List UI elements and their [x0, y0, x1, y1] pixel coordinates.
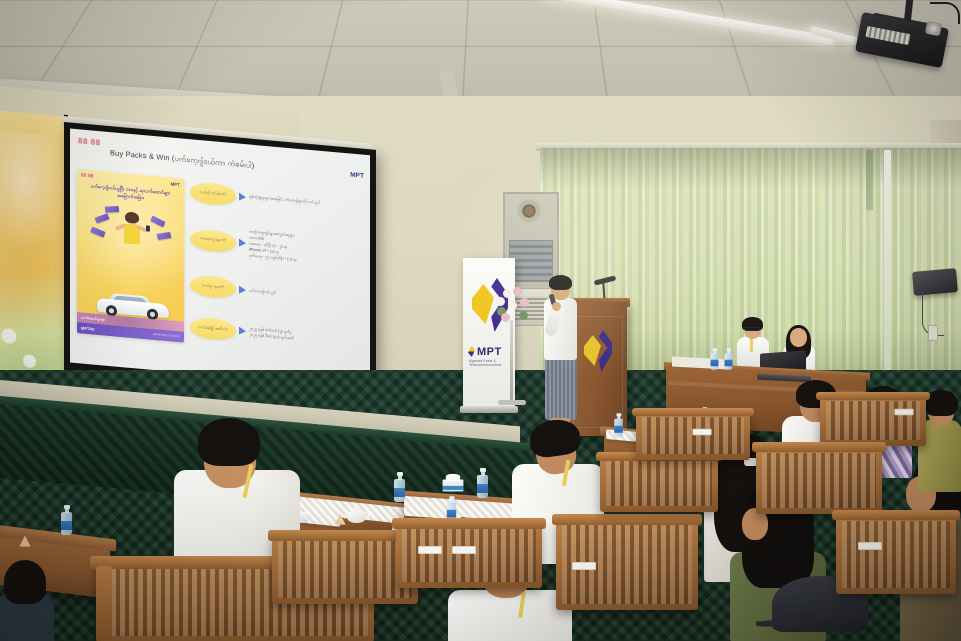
flower-stand-base	[498, 400, 526, 405]
bottle-label	[477, 484, 488, 493]
banner-brand-text: MPT	[477, 346, 502, 358]
flower-leaf	[519, 311, 528, 320]
curtain-gap	[884, 150, 891, 372]
model-hair	[125, 211, 139, 223]
bullet-label-oval: ဘယ်လို ဝင်ပါမလဲ?	[190, 181, 236, 206]
bottle-label	[447, 510, 456, 518]
wooden-bench-far-right[interactable]	[820, 396, 926, 446]
audience-hair	[198, 418, 260, 466]
teapot-lid	[352, 507, 361, 512]
wooden-bench-rear-right[interactable]	[636, 412, 750, 460]
water-bottle	[477, 468, 488, 498]
flower-bloom	[496, 297, 505, 306]
podium-logo-yellow	[584, 335, 601, 366]
water-bottle	[725, 348, 733, 370]
promo-footer-brand: MPT4U	[81, 325, 95, 331]
slide-bullet-row: ဘာဆုတွေ ရမလဲ? လစဉ်ကံထူးရှင်များအတွက်ဆုမျ…	[190, 223, 365, 269]
bench-arm-rest	[96, 566, 112, 641]
seat-name-tag	[894, 409, 913, 415]
audience-member-far-left	[0, 560, 54, 641]
seat-name-tag	[452, 546, 476, 554]
bottle-cap	[616, 413, 621, 416]
teapot	[345, 506, 369, 523]
bottle-cap	[480, 468, 486, 472]
bullet-label-oval: ဘယ်အချိန် အထိလဲ?	[190, 316, 236, 341]
conference-room-photo: 88 88 Buy Packs & Win (ပက်ကေ့ဂျ်ဝယ်ကာ ကံ…	[0, 0, 961, 641]
bench-top-rail	[552, 514, 702, 525]
bottle-cap	[449, 496, 454, 499]
bottle-label	[711, 360, 719, 366]
bullet-text: ဖုန်းသုံးစွဲသူများအနေဖြင့် ပက်ကေ့ဂျ်များ…	[249, 194, 320, 206]
tissue-box-band	[443, 486, 464, 490]
bottle-cap	[397, 472, 403, 476]
promo-ticket	[94, 213, 109, 223]
promo-footer-url: www.mpt.com.mm	[153, 332, 180, 338]
promo-ticket	[156, 232, 171, 240]
tissue-sheet	[446, 474, 460, 481]
water-bottle	[61, 505, 72, 535]
seat-name-tag	[572, 562, 596, 570]
folded-napkin	[334, 513, 345, 524]
seat-name-tag	[858, 542, 882, 550]
slide-bullet-list: ဘယ်လို ဝင်ပါမလဲ? ဖုန်းသုံးစွဲသူများအနေဖြ…	[190, 179, 365, 359]
seat-name-tag	[418, 546, 442, 554]
presenter-hand	[552, 302, 561, 311]
bench-slats	[642, 417, 744, 454]
bullet-label-oval: ဘာဆုတွေ ရမလဲ?	[190, 228, 236, 253]
slide-corner-logo: 88 88	[78, 136, 101, 147]
wooden-bench-right-front[interactable]	[836, 516, 956, 594]
screen-canvas: 88 88 Buy Packs & Win (ပက်ကေ့ဂျ်ဝယ်ကာ ကံ…	[70, 129, 370, 390]
promo-model-figure	[119, 213, 145, 249]
promo-band-text: လက်ဆောင်များစွာ	[81, 315, 105, 323]
promo-poster: 88 88 MPT ပက်ကေ့ဂျ်ဝယ်ယူပြီး ကားနှင့် ဆု…	[77, 169, 184, 343]
bullet-label-oval: ဘယ်မှာ ရမလဲ?	[190, 274, 236, 299]
flower-bloom	[520, 298, 529, 307]
glasses-icon	[745, 327, 760, 331]
promo-logo: 88 88	[81, 173, 94, 180]
bottle-cap	[64, 505, 70, 509]
bottle-label	[394, 488, 405, 497]
bench-top-rail	[632, 408, 754, 416]
presenter-hair	[549, 275, 572, 290]
folded-napkin	[19, 535, 30, 546]
promo-ticket	[150, 216, 165, 228]
projector-lens-icon	[925, 21, 942, 37]
slide-brand-mark: MPT	[350, 172, 364, 180]
promo-ticket	[90, 227, 105, 238]
presenter-longyi	[545, 358, 577, 420]
mural-frame	[0, 108, 68, 407]
bottle-label	[61, 521, 72, 530]
bullet-text: ပက်ကေ့ဂျ်ဝယ်ယူပါ	[249, 287, 276, 295]
bench-slats	[826, 401, 920, 440]
panelist-lanyard	[750, 338, 753, 352]
water-bottle	[394, 472, 405, 502]
flower-arrangement	[495, 285, 531, 329]
flower-stand	[510, 320, 513, 405]
bench-top-rail	[752, 442, 886, 452]
arrow-right-icon	[239, 192, 246, 201]
water-bottle	[711, 348, 719, 370]
promo-brand: MPT	[171, 182, 181, 188]
wooden-bench-centre[interactable]	[396, 524, 542, 588]
flower-bloom	[513, 287, 522, 296]
slide-body: 88 88 MPT ပက်ကေ့ဂျ်ဝယ်ယူပြီး ကားနှင့် ဆု…	[77, 169, 365, 359]
bottle-cap	[726, 348, 730, 351]
slide-bullet-row: ဘယ်မှာ ရမလဲ? ပက်ကေ့ဂျ်ဝယ်ယူပါ	[190, 274, 365, 311]
arrow-right-icon	[239, 327, 246, 336]
logo-yellow-chevron	[472, 284, 494, 324]
wooden-bench-mid-right[interactable]	[600, 456, 718, 512]
slide-bullet-row: ဘယ်လို ဝင်ပါမလဲ? ဖုန်းသုံးစွဲသူများအနေဖြ…	[190, 181, 365, 218]
presenter-speaker	[536, 278, 586, 430]
projection-screen[interactable]: 88 88 Buy Packs & Win (ပက်ကေ့ဂျ်ဝယ်ကာ ကံ…	[64, 122, 376, 398]
flower-bloom	[501, 313, 510, 322]
arrow-right-icon	[239, 239, 246, 248]
bench-slats	[278, 541, 412, 598]
water-bottle	[614, 413, 623, 436]
flower-bloom	[508, 301, 517, 310]
banner-base	[460, 406, 518, 413]
bottle-label	[614, 426, 623, 433]
seat-name-tag	[692, 429, 711, 435]
promo-ticket	[105, 206, 120, 213]
bullet-text: လစဉ်ကံထူးရှင်များအတွက်ဆုများ ကားတစ်စီး ပ…	[249, 228, 297, 263]
wall-outlet[interactable]	[928, 325, 938, 341]
podium-mpt-logo-icon	[584, 330, 612, 374]
bottle-cap	[712, 348, 716, 351]
flower-bloom	[503, 289, 512, 298]
banner-tagline: Myanma Posts & Telecommunications	[469, 359, 515, 367]
curtain-gap	[866, 150, 873, 210]
promo-headline: ပက်ကေ့ဂျ်ဝယ်ယူပြီး ကားနှင့် ဆုလက်ဆောင်မျ…	[82, 183, 179, 205]
tissue-box	[443, 480, 464, 492]
presentation-slide: 88 88 Buy Packs & Win (ပက်ကေ့ဂျ်ဝယ်ကာ ကံ…	[70, 129, 370, 390]
projector-cable	[930, 2, 960, 24]
bench-top-rail	[816, 392, 930, 400]
bench-slats	[402, 529, 536, 582]
arrow-right-icon	[239, 285, 246, 294]
model-phone-icon	[146, 225, 150, 231]
bench-slats	[842, 521, 950, 588]
panelist-head	[790, 328, 807, 347]
curtain-shadow-top	[540, 148, 961, 188]
mpt-wordmark-icon	[468, 346, 475, 357]
wooden-bench-right[interactable]	[756, 448, 882, 514]
bottle-label	[725, 360, 733, 366]
bench-top-rail	[832, 510, 960, 520]
bench-top-rail	[392, 518, 546, 529]
bullet-text: ၂၀၂၅ ခုနှစ် စက်တင် (၂) ရက်မှ ၂၀၂၅ ခုနှစ်…	[249, 326, 294, 342]
exhaust-fan-icon	[516, 198, 542, 224]
bench-slats	[606, 461, 712, 506]
bench-slats	[762, 453, 876, 508]
audience-hair	[4, 560, 46, 604]
mpt-rollup-banner: MPT Myanma Posts & Telecommunications	[463, 258, 515, 410]
slide-bullet-row: ဘယ်အချိန် အထိလဲ? ၂၀၂၅ ခုနှစ် စက်တင် (၂) …	[190, 316, 365, 353]
ac-louver	[509, 240, 553, 282]
